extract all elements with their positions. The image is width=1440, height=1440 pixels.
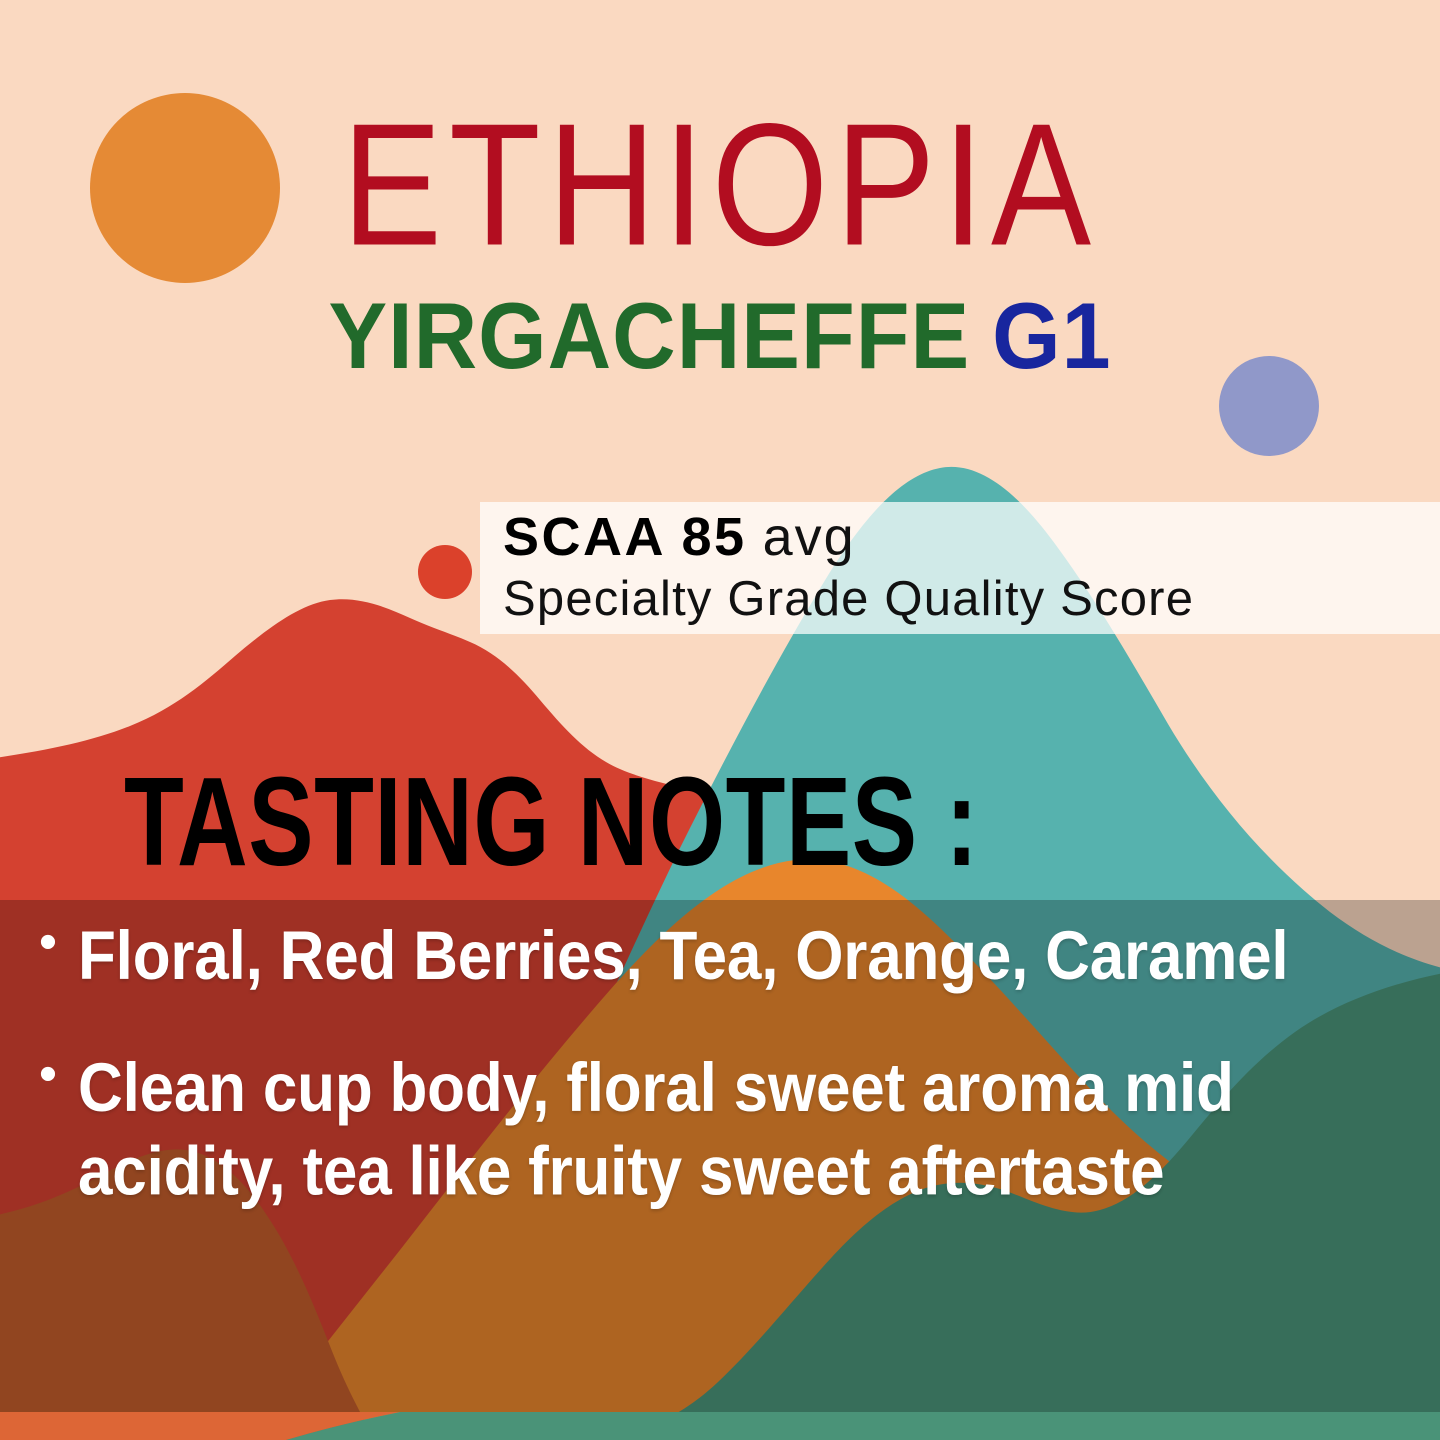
scaa-subtitle: Specialty Grade Quality Score xyxy=(503,574,1440,625)
coffee-spec-poster: ETHIOPIA YIRGACHEFFEG1 SCAA 85avg Specia… xyxy=(0,0,1440,1440)
scaa-avg-label: avg xyxy=(763,510,856,564)
tasting-notes-heading: TASTING NOTES : xyxy=(124,750,978,895)
scaa-score-value: SCAA 85 xyxy=(503,510,747,564)
tasting-notes-list: • Floral, Red Berries, Tea, Orange, Cara… xyxy=(0,915,1440,1254)
bullet-icon: • xyxy=(18,915,78,969)
note-text: Floral, Red Berries, Tea, Orange, Carame… xyxy=(78,915,1414,998)
bullet-icon: • xyxy=(18,1047,78,1101)
list-item: • Clean cup body, floral sweet aroma mid… xyxy=(18,1047,1414,1198)
varietal-name: YIRGACHEFFE xyxy=(328,282,970,390)
scaa-score-banner: SCAA 85avg Specialty Grade Quality Score xyxy=(480,502,1440,634)
poster-header: ETHIOPIA YIRGACHEFFEG1 xyxy=(0,96,1440,387)
red-dot xyxy=(418,545,472,599)
varietal-line: YIRGACHEFFEG1 xyxy=(0,285,1440,387)
country-title: ETHIOPIA xyxy=(0,96,1440,273)
scaa-score-line: SCAA 85avg xyxy=(503,510,1440,564)
bottom-green-band xyxy=(286,1412,1440,1440)
list-item: • Floral, Red Berries, Tea, Orange, Cara… xyxy=(18,915,1414,991)
grade-badge: G1 xyxy=(992,282,1111,390)
note-text: Clean cup body, floral sweet aroma mid a… xyxy=(78,1047,1414,1213)
